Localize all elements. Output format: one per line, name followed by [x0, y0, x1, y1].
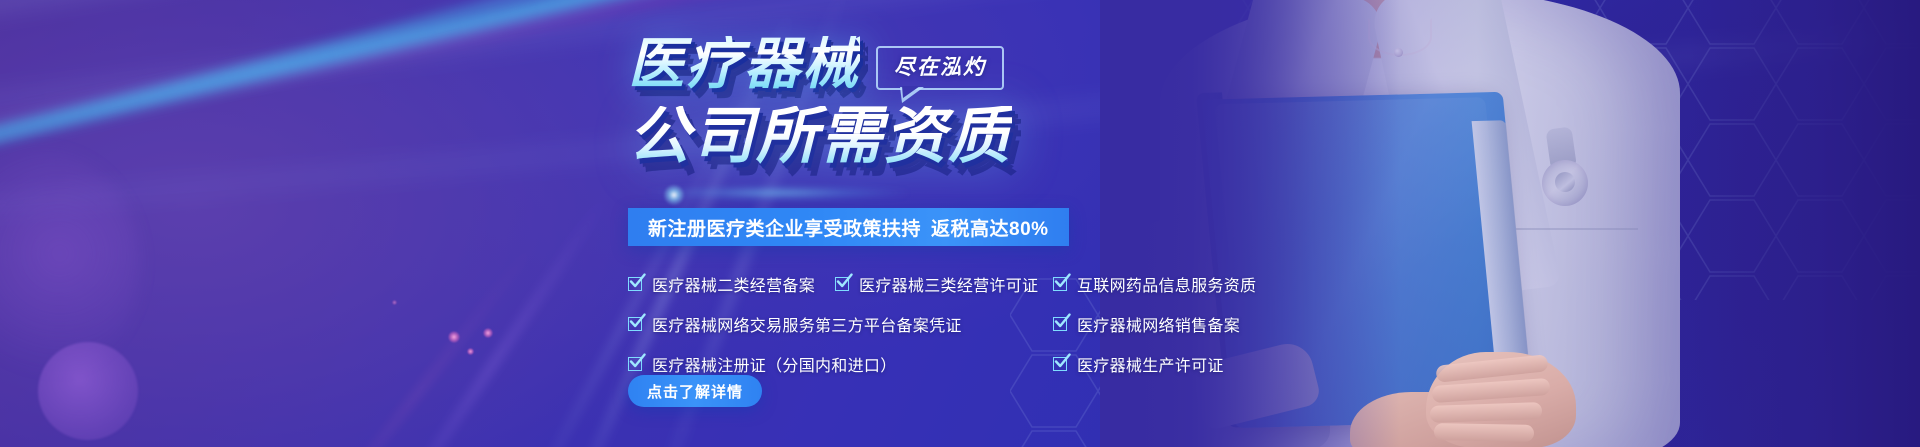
headline-line-2: 公司所需资质: [628, 106, 1012, 168]
subbadge-text-plain: 新注册医疗类企业: [648, 214, 804, 241]
checklist-item[interactable]: 互联网药品信息服务资质: [1053, 272, 1256, 296]
headline-block: 医疗器械 尽在泓灼 公司所需资质: [628, 36, 1012, 168]
brand-tag-label: 尽在泓灼: [894, 56, 986, 79]
checklist-item[interactable]: 医疗器械网络交易服务第三方平台备案凭证: [628, 312, 962, 336]
checklist-item[interactable]: 医疗器械二类经营备案: [628, 272, 815, 296]
checklist-item-label: 医疗器械网络销售备案: [1077, 312, 1240, 336]
checklist-item[interactable]: 医疗器械生产许可证: [1053, 352, 1224, 376]
checklist-item[interactable]: 医疗器械三类经营许可证: [835, 272, 1038, 296]
checklist-item[interactable]: 医疗器械注册证（分国内和进口）: [628, 352, 897, 376]
headline-spark-icon: [663, 184, 685, 206]
headline-line-1: 医疗器械: [628, 36, 860, 92]
check-mark-icon: [628, 276, 644, 292]
subbadge-text-tail: 返税高达80%: [931, 214, 1049, 241]
check-mark-icon: [628, 316, 644, 332]
check-mark-icon: [1053, 316, 1069, 332]
brand-tag-bubble: 尽在泓灼: [876, 46, 1004, 90]
checklist-row: 医疗器械生产许可证: [1053, 348, 1573, 379]
headline-glow-streak: [648, 188, 908, 198]
banner-content: 医疗器械 尽在泓灼 公司所需资质 新注册医疗类企业享受政策扶持返税高达80%: [0, 0, 1920, 447]
checklist-item-label: 医疗器械生产许可证: [1077, 352, 1224, 376]
learn-more-button[interactable]: 点击了解详情: [628, 375, 762, 407]
headline-first-row: 医疗器械 尽在泓灼: [628, 36, 1012, 92]
checklist-item-label: 医疗器械注册证（分国内和进口）: [652, 352, 897, 376]
checklist-row: 医疗器械网络销售备案: [1053, 308, 1573, 339]
checklist-item-label: 医疗器械二类经营备案: [652, 272, 815, 296]
promo-banner: 医疗器械 尽在泓灼 公司所需资质 新注册医疗类企业享受政策扶持返税高达80%: [0, 0, 1920, 447]
checklist-item[interactable]: 医疗器械网络销售备案: [1053, 312, 1240, 336]
qualification-checklist-right: 互联网药品信息服务资质 医疗器械网络销售备案: [1053, 268, 1573, 388]
check-mark-icon: [628, 356, 644, 372]
checklist-row: 互联网药品信息服务资质: [1053, 268, 1573, 299]
subbadge-text-bold: 享受政策扶持: [804, 214, 921, 241]
checklist-item-label: 医疗器械三类经营许可证: [859, 272, 1038, 296]
check-mark-icon: [835, 276, 851, 292]
checklist-item-label: 医疗器械网络交易服务第三方平台备案凭证: [652, 312, 962, 336]
check-mark-icon: [1053, 356, 1069, 372]
policy-highlight-badge: 新注册医疗类企业享受政策扶持返税高达80%: [628, 208, 1069, 246]
check-mark-icon: [1053, 276, 1069, 292]
checklist-item-label: 互联网药品信息服务资质: [1077, 272, 1256, 296]
